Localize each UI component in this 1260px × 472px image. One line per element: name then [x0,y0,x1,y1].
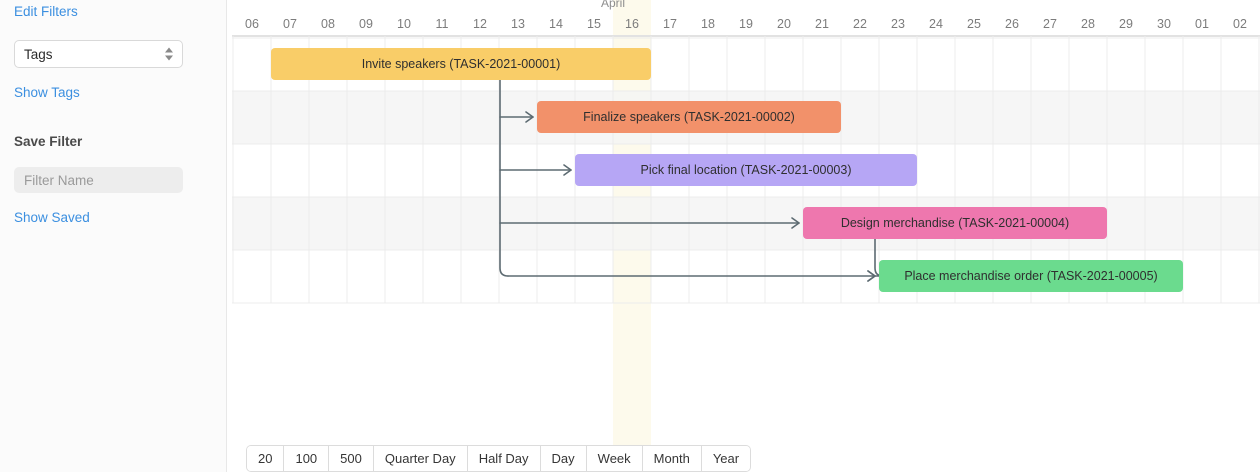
view-mode-button-100[interactable]: 100 [284,446,329,471]
show-saved-link[interactable]: Show Saved [14,210,212,226]
day-label: 28 [1081,17,1095,31]
day-label: 08 [321,17,335,31]
filter-name-input[interactable] [14,167,183,193]
day-label: 30 [1157,17,1171,31]
day-label: 29 [1119,17,1133,31]
day-label: 14 [549,17,563,31]
view-mode-button-week[interactable]: Week [587,446,643,471]
day-label: 24 [929,17,943,31]
day-label: 25 [967,17,981,31]
task-bar[interactable]: Pick final location (TASK-2021-00003) [575,154,917,186]
day-label: 17 [663,17,677,31]
view-mode-button-500[interactable]: 500 [329,446,374,471]
day-label: 20 [777,17,791,31]
view-mode-toolbar[interactable]: 20100500Quarter DayHalf DayDayWeekMonthY… [246,445,751,472]
view-mode-button-year[interactable]: Year [702,446,750,471]
edit-filters-link[interactable]: Edit Filters [14,4,212,20]
view-mode-button-month[interactable]: Month [643,446,702,471]
save-filter-title: Save Filter [14,134,212,150]
gantt-app: Edit Filters Tags Show Tags Save Filter … [0,0,1260,472]
day-label: 19 [739,17,753,31]
view-mode-button-half-day[interactable]: Half Day [468,446,541,471]
month-label: April [601,0,625,10]
task-bar[interactable]: Place merchandise order (TASK-2021-00005… [879,260,1183,292]
show-tags-link[interactable]: Show Tags [14,85,212,101]
tags-select-wrapper: Tags [14,40,183,68]
task-bar[interactable]: Design merchandise (TASK-2021-00004) [803,207,1107,239]
task-bar[interactable]: Invite speakers (TASK-2021-00001) [271,48,651,80]
day-label: 27 [1043,17,1057,31]
gantt-chart[interactable]: April06070809101112131415161718192021222… [232,0,1260,472]
view-mode-button-20[interactable]: 20 [247,446,284,471]
task-bar[interactable]: Finalize speakers (TASK-2021-00002) [537,101,841,133]
day-label: 02 [1233,17,1247,31]
day-label: 06 [245,17,259,31]
day-label: 16 [625,17,639,31]
filters-sidebar: Edit Filters Tags Show Tags Save Filter … [0,0,227,472]
day-label: 21 [815,17,829,31]
day-label: 18 [701,17,715,31]
day-label: 22 [853,17,867,31]
view-mode-button-day[interactable]: Day [541,446,587,471]
day-label: 11 [436,17,449,31]
day-label: 12 [473,17,487,31]
view-mode-button-quarter-day[interactable]: Quarter Day [374,446,468,471]
day-label: 07 [283,17,297,31]
day-label: 01 [1195,17,1209,31]
day-label: 15 [587,17,601,31]
day-label: 13 [511,17,525,31]
day-label: 10 [397,17,411,31]
tags-select[interactable]: Tags [14,40,183,68]
day-label: 09 [359,17,373,31]
day-label: 23 [891,17,905,31]
day-label: 26 [1005,17,1019,31]
